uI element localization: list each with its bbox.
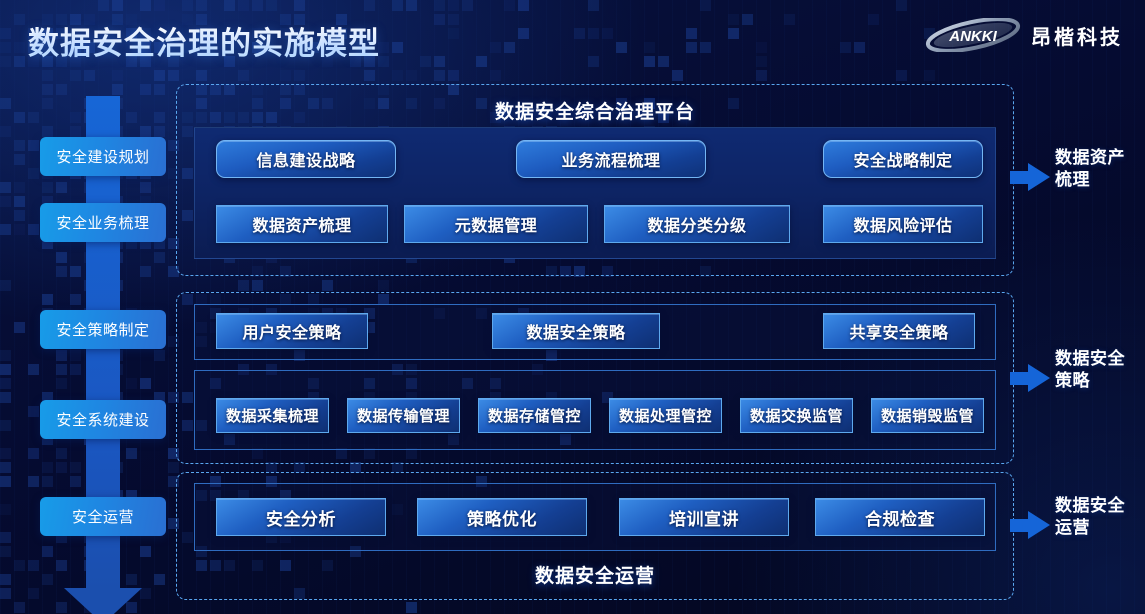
rail-item-label: 安全运营 xyxy=(72,506,134,527)
card-metadata-management[interactable]: 元数据管理 xyxy=(404,205,588,243)
page-title: 数据安全治理的实施模型 xyxy=(28,18,380,63)
card-label: 安全分析 xyxy=(266,505,336,530)
group-platform-title: 数据安全综合治理平台 xyxy=(177,97,1013,124)
output-arrow-policy-icon xyxy=(1010,364,1050,392)
card-compliance-inspection[interactable]: 合规检查 xyxy=(815,498,985,536)
card-label: 数据资产梳理 xyxy=(252,212,351,236)
arrow-head xyxy=(1028,163,1050,191)
card-label: 数据存储管控 xyxy=(488,405,581,426)
card-data-processing-control[interactable]: 数据处理管控 xyxy=(609,398,722,433)
card-data-transfer-management[interactable]: 数据传输管理 xyxy=(347,398,460,433)
rail-item-operation[interactable]: 安全运营 xyxy=(40,497,166,536)
rail-item-business-review[interactable]: 安全业务梳理 xyxy=(40,203,166,242)
card-data-storage-control[interactable]: 数据存储管控 xyxy=(478,398,591,433)
svg-text:ANKKI: ANKKI xyxy=(948,28,997,45)
card-label: 元数据管理 xyxy=(455,212,538,236)
output-label-data-asset: 数据资产梳理 xyxy=(1055,147,1127,191)
card-label: 策略优化 xyxy=(467,505,537,530)
rail-item-label: 安全策略制定 xyxy=(56,319,149,340)
card-label: 数据交换监管 xyxy=(750,405,843,426)
output-label-data-security-policy: 数据安全策略 xyxy=(1055,348,1127,392)
card-data-classification-grading[interactable]: 数据分类分级 xyxy=(604,205,790,243)
card-policy-optimization[interactable]: 策略优化 xyxy=(417,498,587,536)
card-label: 信息建设战略 xyxy=(256,147,355,171)
output-arrow-asset-icon xyxy=(1010,163,1050,191)
group-platform: 数据安全综合治理平台 信息建设战略 业务流程梳理 安全战略制定 数据资产梳理 元… xyxy=(176,84,1014,276)
card-training-seminar[interactable]: 培训宣讲 xyxy=(619,498,789,536)
output-arrow-operation-icon xyxy=(1010,511,1050,539)
card-label: 共享安全策略 xyxy=(849,319,948,343)
card-shared-security-policy[interactable]: 共享安全策略 xyxy=(823,313,975,349)
brand-name: 昂楷科技 xyxy=(1031,21,1123,50)
card-business-process-review[interactable]: 业务流程梳理 xyxy=(516,140,706,178)
card-user-security-policy[interactable]: 用户安全策略 xyxy=(216,313,368,349)
arrow-shaft xyxy=(1010,171,1030,184)
group-operation-panel: 安全分析 策略优化 培训宣讲 合规检查 xyxy=(194,483,996,551)
slide-canvas: 数据安全治理的实施模型 ANKKI 昂楷科技 安全建设规划 安全业务梳 xyxy=(0,0,1145,614)
card-label: 数据安全策略 xyxy=(526,319,625,343)
card-label: 数据销毁监管 xyxy=(881,405,974,426)
card-data-security-policy[interactable]: 数据安全策略 xyxy=(492,313,660,349)
group-policy: 用户安全策略 数据安全策略 共享安全策略 数据采集梳理 数据传输管理 数据存储管… xyxy=(176,292,1014,464)
group-operation-title: 数据安全运营 xyxy=(177,561,1013,588)
group-policy-panel-top: 用户安全策略 数据安全策略 共享安全策略 xyxy=(194,304,996,360)
ankki-logo-icon: ANKKI xyxy=(925,18,1021,52)
card-data-collection-review[interactable]: 数据采集梳理 xyxy=(216,398,329,433)
card-label: 数据风险评估 xyxy=(853,212,952,236)
group-policy-panel-bottom: 数据采集梳理 数据传输管理 数据存储管控 数据处理管控 数据交换监管 数据销毁监… xyxy=(194,370,996,450)
rail-item-label: 安全系统建设 xyxy=(56,409,149,430)
rail-item-label: 安全建设规划 xyxy=(56,146,149,167)
group-platform-panel: 信息建设战略 业务流程梳理 安全战略制定 数据资产梳理 元数据管理 数据分类分级… xyxy=(194,127,996,259)
card-label: 数据传输管理 xyxy=(357,405,450,426)
card-data-risk-assessment[interactable]: 数据风险评估 xyxy=(823,205,983,243)
card-label: 数据处理管控 xyxy=(619,405,712,426)
output-label-data-security-operation: 数据安全运营 xyxy=(1055,495,1127,539)
card-label: 用户安全策略 xyxy=(242,319,341,343)
card-security-strategy-making[interactable]: 安全战略制定 xyxy=(823,140,983,178)
arrow-shaft xyxy=(1010,519,1030,532)
rail-item-system-build[interactable]: 安全系统建设 xyxy=(40,400,166,439)
card-label: 安全战略制定 xyxy=(853,147,952,171)
card-data-asset-inventory[interactable]: 数据资产梳理 xyxy=(216,205,388,243)
card-data-destruction-supervision[interactable]: 数据销毁监管 xyxy=(871,398,984,433)
rail-item-policy-making[interactable]: 安全策略制定 xyxy=(40,310,166,349)
card-label: 合规检查 xyxy=(865,505,935,530)
card-security-analysis[interactable]: 安全分析 xyxy=(216,498,386,536)
group-operation: 安全分析 策略优化 培训宣讲 合规检查 数据安全运营 xyxy=(176,472,1014,600)
card-label: 培训宣讲 xyxy=(669,505,739,530)
card-label: 数据分类分级 xyxy=(647,212,746,236)
rail-item-planning[interactable]: 安全建设规划 xyxy=(40,137,166,176)
brand-logo: ANKKI 昂楷科技 xyxy=(925,18,1123,52)
arrow-head xyxy=(1028,364,1050,392)
arrow-shaft xyxy=(1010,372,1030,385)
arrow-head xyxy=(1028,511,1050,539)
card-label: 业务流程梳理 xyxy=(561,147,660,171)
card-data-exchange-supervision[interactable]: 数据交换监管 xyxy=(740,398,853,433)
card-label: 数据采集梳理 xyxy=(226,405,319,426)
rail-item-label: 安全业务梳理 xyxy=(56,212,149,233)
card-info-build-strategy[interactable]: 信息建设战略 xyxy=(216,140,396,178)
